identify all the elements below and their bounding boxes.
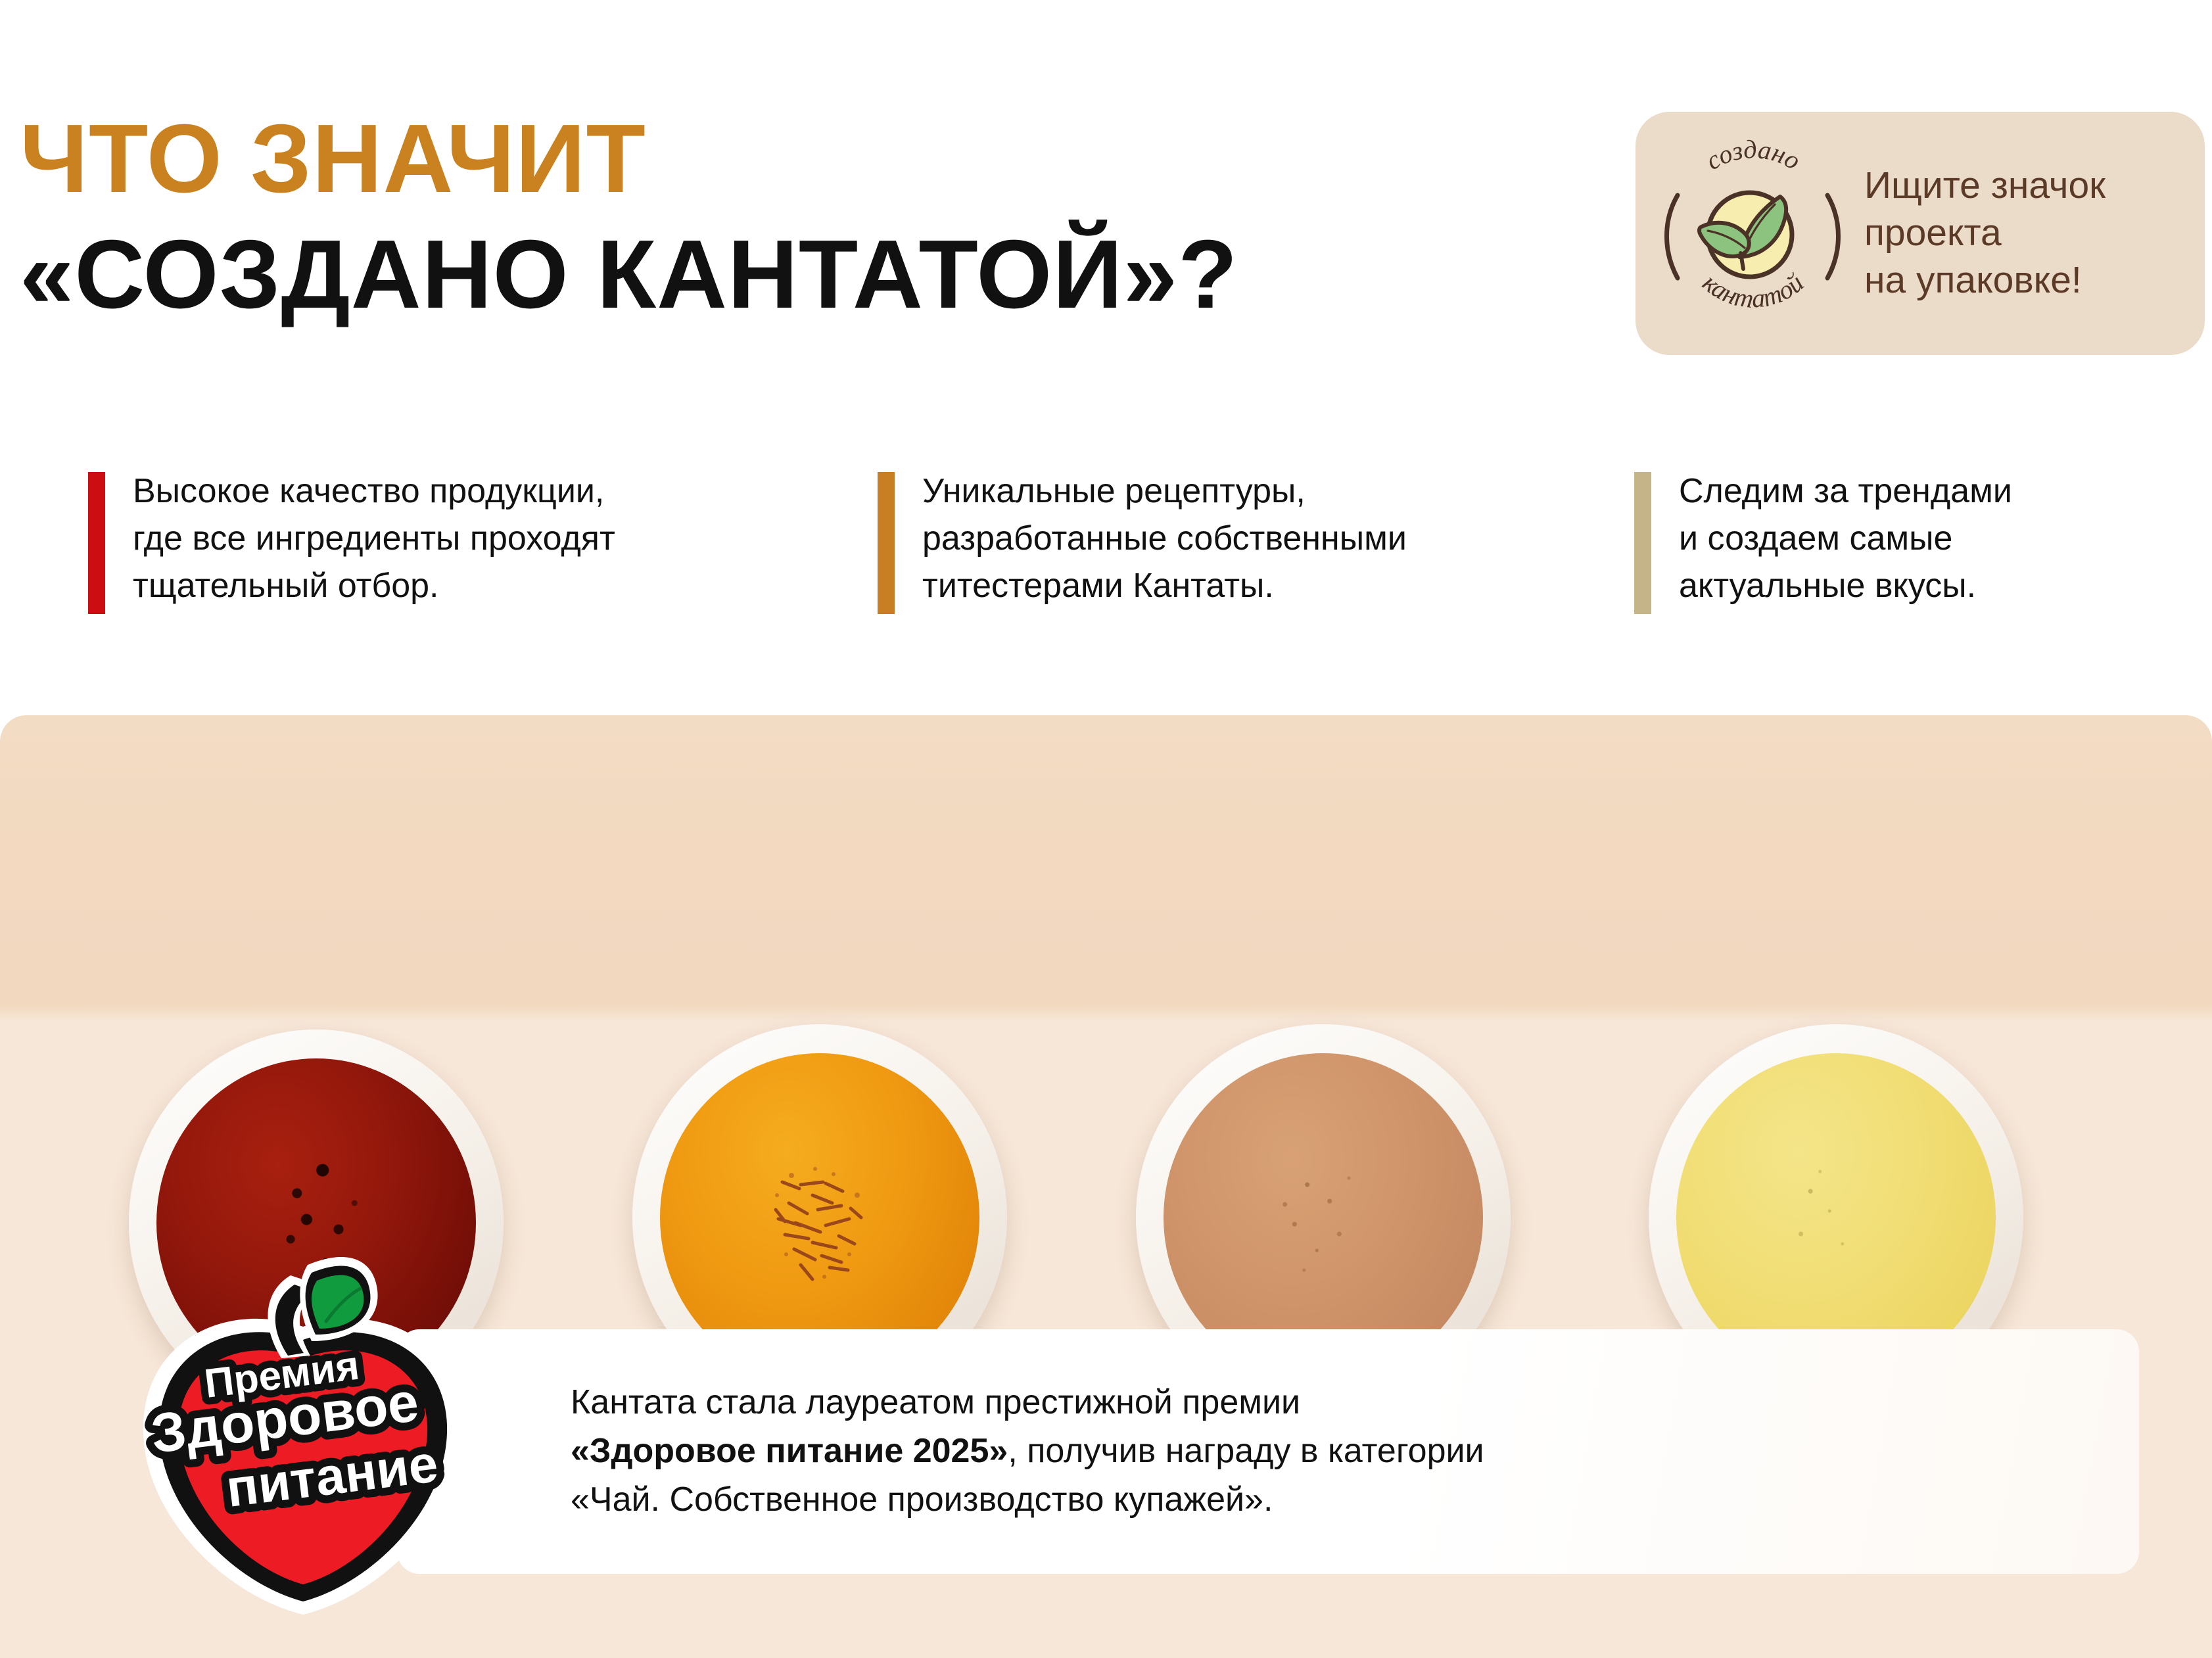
- caption-line-2: «Здоровое питание 2025», получив награду…: [571, 1427, 1484, 1476]
- feature-accent-bar: [88, 472, 105, 614]
- feature-line-2: где все ингредиенты проходят: [133, 515, 615, 563]
- caption-award-name: «Здоровое питание 2025»: [571, 1432, 1008, 1470]
- logo-arc-top-text: создано: [1701, 135, 1806, 176]
- feature-line-3: тщательный отбор.: [133, 563, 615, 610]
- feature-line-2: разработанные собственными: [922, 515, 1407, 563]
- feature-list: Высокое качество продукции, где все ингр…: [0, 468, 2212, 632]
- feature-line-2: и создаем самые: [1679, 515, 2012, 563]
- caption-line-3: «Чай. Собственное производство купажей».: [571, 1476, 1484, 1525]
- feature-line-1: Уникальные рецептуры,: [922, 468, 1407, 515]
- svg-text:создано: создано: [1701, 135, 1806, 176]
- feature-item-recipes: Уникальные рецептуры, разработанные собс…: [878, 468, 1574, 614]
- feature-item-trends: Следим за трендами и создаем самые актуа…: [1634, 468, 2212, 614]
- award-caption-card: Кантата стала лауреатом престижной преми…: [397, 1329, 2139, 1574]
- healthy-food-award-logo: Премия Премия Здоровое Здоровое питание …: [129, 1236, 477, 1617]
- photo-background-seam: [0, 1005, 2212, 1022]
- project-badge: создано кантатой Ищите значок проекта на…: [1635, 112, 2205, 355]
- badge-callout-line-3: на упаковке!: [1864, 257, 2106, 304]
- award-caption-text: Кантата стала лауреатом престижной преми…: [571, 1379, 1484, 1524]
- feature-line-1: Высокое качество продукции,: [133, 468, 615, 515]
- kantata-project-logo: создано кантатой: [1658, 135, 1848, 332]
- feature-item-quality: Высокое качество продукции, где все ингр…: [88, 468, 837, 614]
- feature-line-1: Следим за трендами: [1679, 468, 2012, 515]
- page-title: ЧТО ЗНАЧИТ «СОЗДАНО КАНТАТОЙ»?: [20, 110, 1532, 323]
- feature-accent-bar: [878, 472, 895, 614]
- feature-text: Следим за трендами и создаем самые актуа…: [1679, 468, 2012, 609]
- caption-line-2-rest: , получив награду в категории: [1008, 1432, 1484, 1470]
- feature-line-3: актуальные вкусы.: [1679, 563, 2012, 610]
- badge-callout-line-2: проекта: [1864, 210, 2106, 257]
- badge-callout: Ищите значок проекта на упаковке!: [1864, 162, 2106, 304]
- photo-background-upper: [0, 715, 2212, 1011]
- badge-callout-line-1: Ищите значок: [1864, 162, 2106, 210]
- title-line-2: «СОЗДАНО КАНТАТОЙ»?: [20, 226, 1532, 323]
- caption-line-1: Кантата стала лауреатом престижной преми…: [571, 1379, 1484, 1427]
- title-line-1: ЧТО ЗНАЧИТ: [20, 110, 1532, 208]
- feature-text: Высокое качество продукции, где все ингр…: [133, 468, 615, 609]
- feature-line-3: титестерами Кантаты.: [922, 563, 1407, 610]
- infographic-page: ЧТО ЗНАЧИТ «СОЗДАНО КАНТАТОЙ»?: [0, 0, 2212, 1658]
- feature-text: Уникальные рецептуры, разработанные собс…: [922, 468, 1407, 609]
- feature-accent-bar: [1634, 472, 1651, 614]
